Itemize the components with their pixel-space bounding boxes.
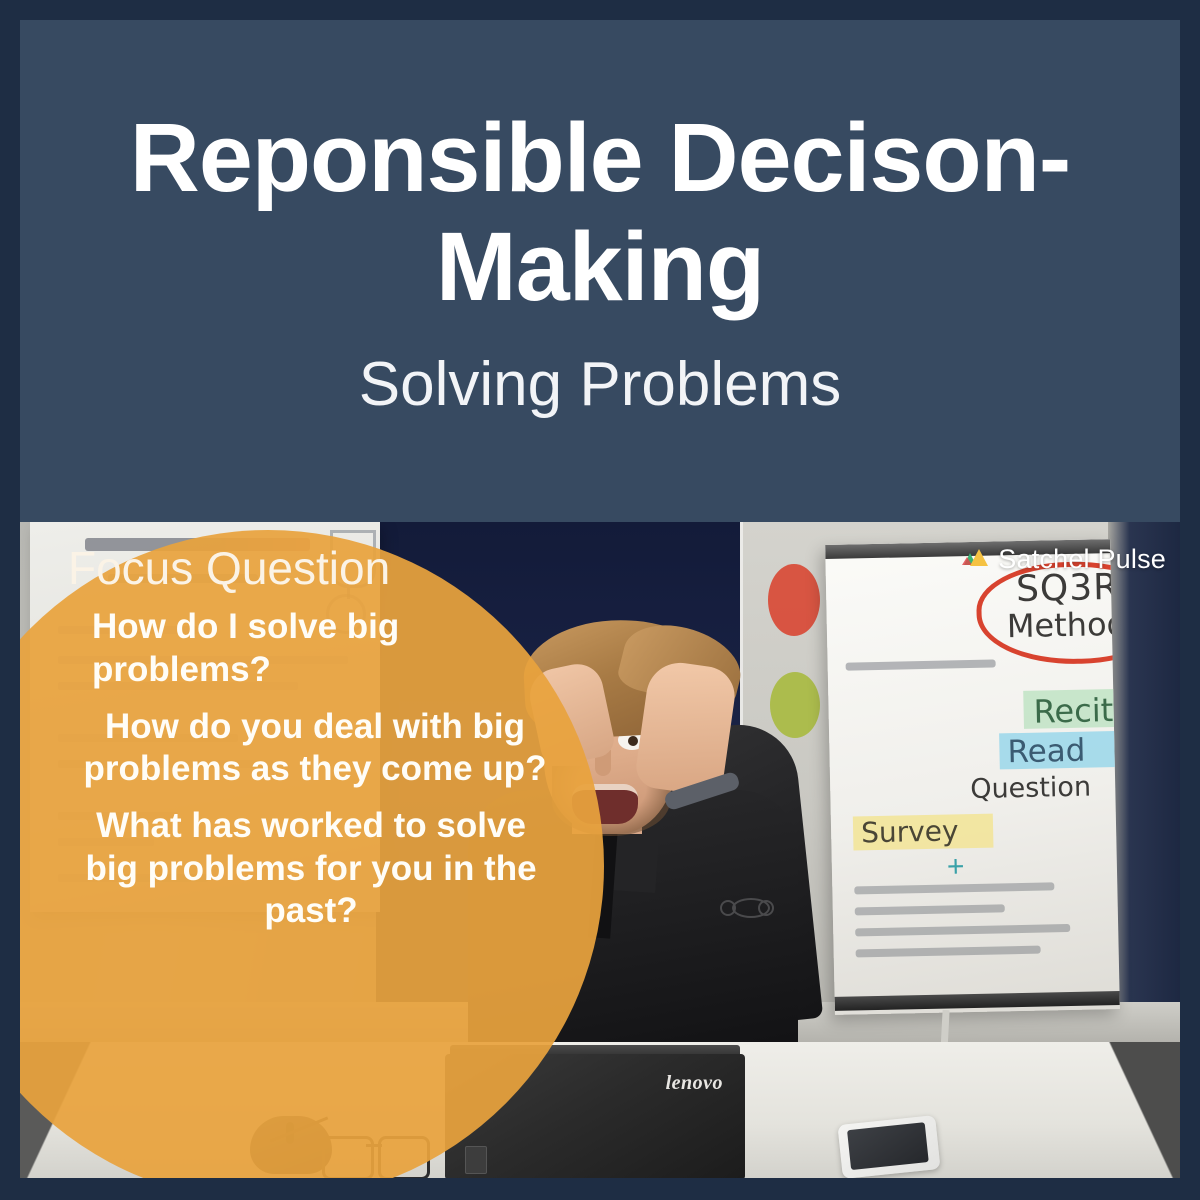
focus-question-1: How do I solve big problems? [92,606,554,691]
flipchart-step-read: Read [1007,733,1086,771]
triangle-logo-icon [960,545,990,574]
flipchart-step-question: Question [970,772,1091,806]
focus-question-label: Focus Question [68,544,554,592]
focus-question-2: How do you deal with big problems as the… [76,706,554,791]
person-cuff-buttons [732,898,770,918]
slide-inner-panel: Reponsible Decison-Making Solving Proble… [20,20,1180,1178]
focus-question-block: Focus Question How do I solve big proble… [20,544,580,947]
flipchart-bullet [856,946,1041,958]
satchel-pulse-logo: Satchel Pulse [960,544,1166,575]
laptop-sticker [465,1146,487,1174]
satchel-pulse-logo-text: Satchel Pulse [998,544,1166,575]
person-pupil-right [628,736,638,746]
flipchart-bullet [855,924,1070,937]
photo-region: SQ3R Method Recite Read Question Survey … [20,522,1180,1178]
flipchart-subheading: Method [1006,605,1119,646]
flipchart-note-scribble [846,659,996,670]
desk-shadow-right [1060,1042,1180,1178]
page-subtitle: Solving Problems [359,351,841,419]
flipchart-right-sq3r: SQ3R Method Recite Read Question Survey … [825,539,1120,1015]
flipchart-bullet [854,882,1054,894]
flipchart-step-survey: Survey [861,814,959,849]
flipchart-plus-sign: + [947,850,965,884]
laptop-brand-label: lenovo [666,1072,723,1095]
slide-canvas: Reponsible Decison-Making Solving Proble… [0,0,1200,1200]
flipchart-bullet-list [854,882,1086,971]
page-title: Reponsible Decison-Making [70,104,1130,321]
title-block: Reponsible Decison-Making Solving Proble… [20,20,1180,522]
flipchart-base-bar [835,991,1120,1011]
focus-question-3: What has worked to solve big problems fo… [68,805,554,933]
flipchart-bullet [855,904,1005,915]
flipchart-step-recite: Recite [1033,691,1120,731]
smartphone [837,1115,940,1178]
